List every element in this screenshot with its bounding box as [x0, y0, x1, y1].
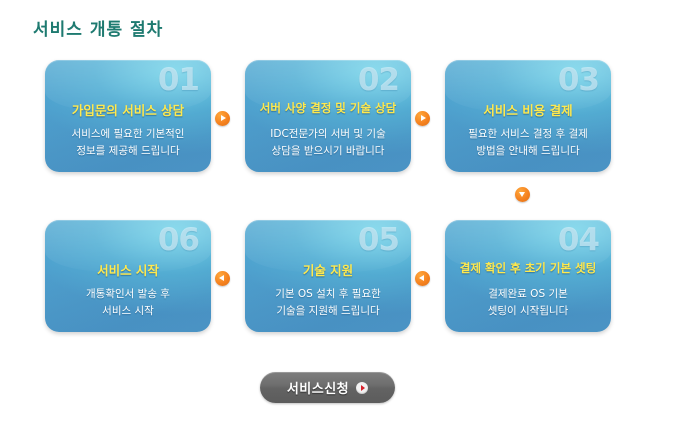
play-arrow-icon [356, 382, 368, 394]
step-desc-line-1: 기본 OS 설치 후 필요한 [251, 286, 405, 303]
step-card-05[interactable]: 05 기술 지원 기본 OS 설치 후 필요한 기술을 지원해 드립니다 [245, 220, 411, 332]
step-title-05: 기술 지원 [245, 260, 411, 279]
step-desc-line-2: 셋팅이 시작됩니다 [451, 303, 605, 320]
step-title-04: 결제 확인 후 초기 기본 셋팅 [445, 260, 611, 276]
arrow-down-step3-to-step4-icon [515, 187, 530, 202]
step-card-06[interactable]: 06 서비스 시작 개통확인서 발송 후 서비스 시작 [45, 220, 211, 332]
step-desc-line-1: 필요한 서비스 결정 후 결제 [451, 126, 605, 143]
step-description-01: 서비스에 필요한 기본적인 정보를 제공해 드립니다 [51, 126, 205, 160]
step-desc-line-2: 기술을 지원해 드립니다 [251, 303, 405, 320]
service-apply-button[interactable]: 서비스신청 [260, 372, 395, 403]
step-title-01: 가입문의 서비스 상담 [45, 100, 211, 119]
step-desc-line-1: 개통확인서 발송 후 [51, 286, 205, 303]
arrow-left-step5-to-step6-icon [215, 271, 230, 286]
step-title-06: 서비스 시작 [45, 260, 211, 279]
step-description-06: 개통확인서 발송 후 서비스 시작 [51, 286, 205, 320]
step-card-04[interactable]: 04 결제 확인 후 초기 기본 셋팅 결제완료 OS 기본 셋팅이 시작됩니다 [445, 220, 611, 332]
step-card-02[interactable]: 02 서버 사양 결정 및 기술 상담 IDC전문가의 서버 및 기술 상담을 … [245, 60, 411, 172]
step-title-03: 서비스 비용 결제 [445, 100, 611, 119]
step-desc-line-1: 결제완료 OS 기본 [451, 286, 605, 303]
step-desc-line-2: 서비스 시작 [51, 303, 205, 320]
step-desc-line-1: 서비스에 필요한 기본적인 [51, 126, 205, 143]
step-number-04: 04 [558, 221, 599, 260]
step-number-02: 02 [358, 61, 399, 100]
arrow-right-step1-to-step2-icon [215, 111, 230, 126]
step-number-06: 06 [158, 221, 199, 260]
step-description-02: IDC전문가의 서버 및 기술 상담을 받으시기 바랍니다 [251, 126, 405, 160]
step-number-01: 01 [158, 61, 199, 100]
step-description-03: 필요한 서비스 결정 후 결제 방법을 안내해 드립니다 [451, 126, 605, 160]
step-desc-line-2: 방법을 안내해 드립니다 [451, 143, 605, 160]
step-number-05: 05 [358, 221, 399, 260]
step-desc-line-2: 정보를 제공해 드립니다 [51, 143, 205, 160]
apply-button-label: 서비스신청 [287, 378, 349, 397]
step-card-03[interactable]: 03 서비스 비용 결제 필요한 서비스 결정 후 결제 방법을 안내해 드립니… [445, 60, 611, 172]
step-number-03: 03 [558, 61, 599, 100]
arrow-left-step4-to-step5-icon [415, 271, 430, 286]
step-title-02: 서버 사양 결정 및 기술 상담 [245, 100, 411, 116]
arrow-right-step2-to-step3-icon [415, 111, 430, 126]
step-description-04: 결제완료 OS 기본 셋팅이 시작됩니다 [451, 286, 605, 320]
step-desc-line-1: IDC전문가의 서버 및 기술 [251, 126, 405, 143]
steps-grid: 01 가입문의 서비스 상담 서비스에 필요한 기본적인 정보를 제공해 드립니… [0, 0, 680, 360]
step-description-05: 기본 OS 설치 후 필요한 기술을 지원해 드립니다 [251, 286, 405, 320]
step-card-01[interactable]: 01 가입문의 서비스 상담 서비스에 필요한 기본적인 정보를 제공해 드립니… [45, 60, 211, 172]
step-desc-line-2: 상담을 받으시기 바랍니다 [251, 143, 405, 160]
